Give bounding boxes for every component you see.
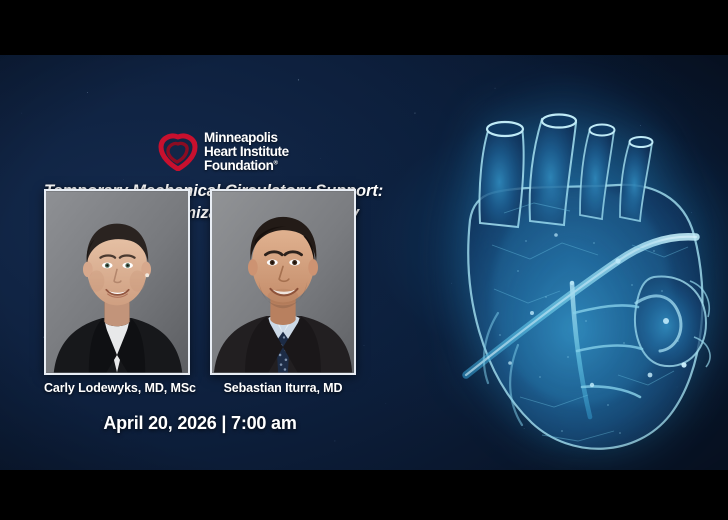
logo-line-3: Foundation® bbox=[204, 159, 289, 173]
letterbox-bar-bottom bbox=[0, 470, 728, 520]
mhif-logo-text: Minneapolis Heart Institute Foundation® bbox=[204, 131, 289, 172]
logo-line-2: Heart Institute bbox=[204, 145, 289, 159]
speaker-photos bbox=[44, 189, 356, 375]
digital-anatomical-heart-icon bbox=[422, 55, 722, 470]
registered-mark: ® bbox=[273, 160, 277, 166]
speaker-name: Carly Lodewyks, MD, MSc bbox=[44, 381, 190, 395]
speaker-names: Carly Lodewyks, MD, MSc Sebastian Iturra… bbox=[44, 381, 356, 395]
event-datetime: April 20, 2026 | 7:00 am bbox=[44, 413, 356, 434]
mhif-logo: Minneapolis Heart Institute Foundation® bbox=[158, 131, 289, 172]
slide-canvas: Minneapolis Heart Institute Foundation® … bbox=[0, 55, 728, 470]
logo-line-1: Minneapolis bbox=[204, 131, 289, 145]
speaker-name: Sebastian Iturra, MD bbox=[210, 381, 356, 395]
speaker-portrait-icon bbox=[212, 191, 354, 373]
letterbox-bar-top bbox=[0, 0, 728, 55]
speaker-portrait-icon bbox=[46, 191, 188, 373]
mhif-swirl-heart-icon bbox=[158, 133, 198, 171]
speaker-photo-frame bbox=[44, 189, 190, 375]
video-frame: Minneapolis Heart Institute Foundation® … bbox=[0, 0, 728, 520]
speaker-photo-frame bbox=[210, 189, 356, 375]
